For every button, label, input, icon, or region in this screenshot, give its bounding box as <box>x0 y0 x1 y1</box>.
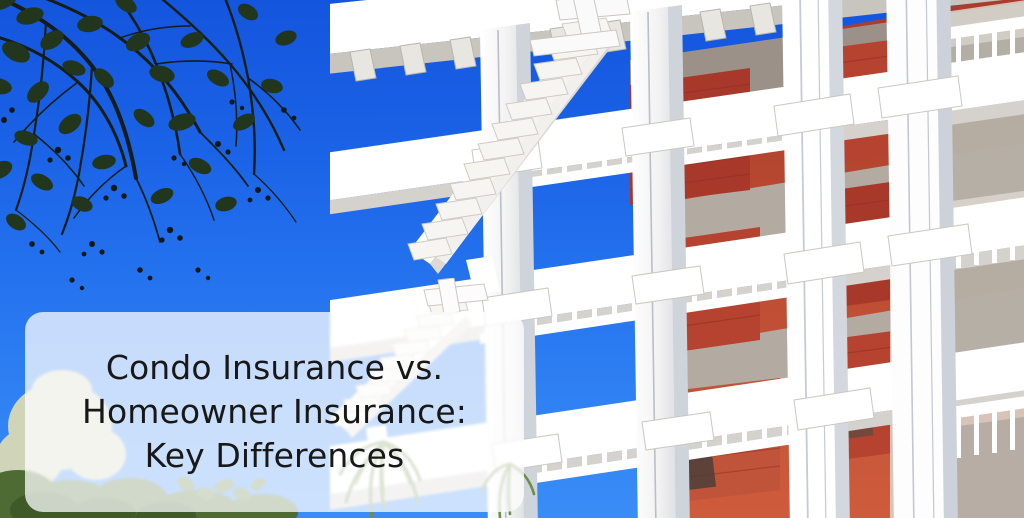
hero-banner: Condo Insurance vs. Homeowner Insurance:… <box>0 0 1024 518</box>
title-card: Condo Insurance vs. Homeowner Insurance:… <box>25 312 524 512</box>
tree-canopy-silhouette <box>0 0 346 312</box>
pergola-upper <box>380 0 680 292</box>
page-title: Condo Insurance vs. Homeowner Insurance:… <box>82 346 467 478</box>
